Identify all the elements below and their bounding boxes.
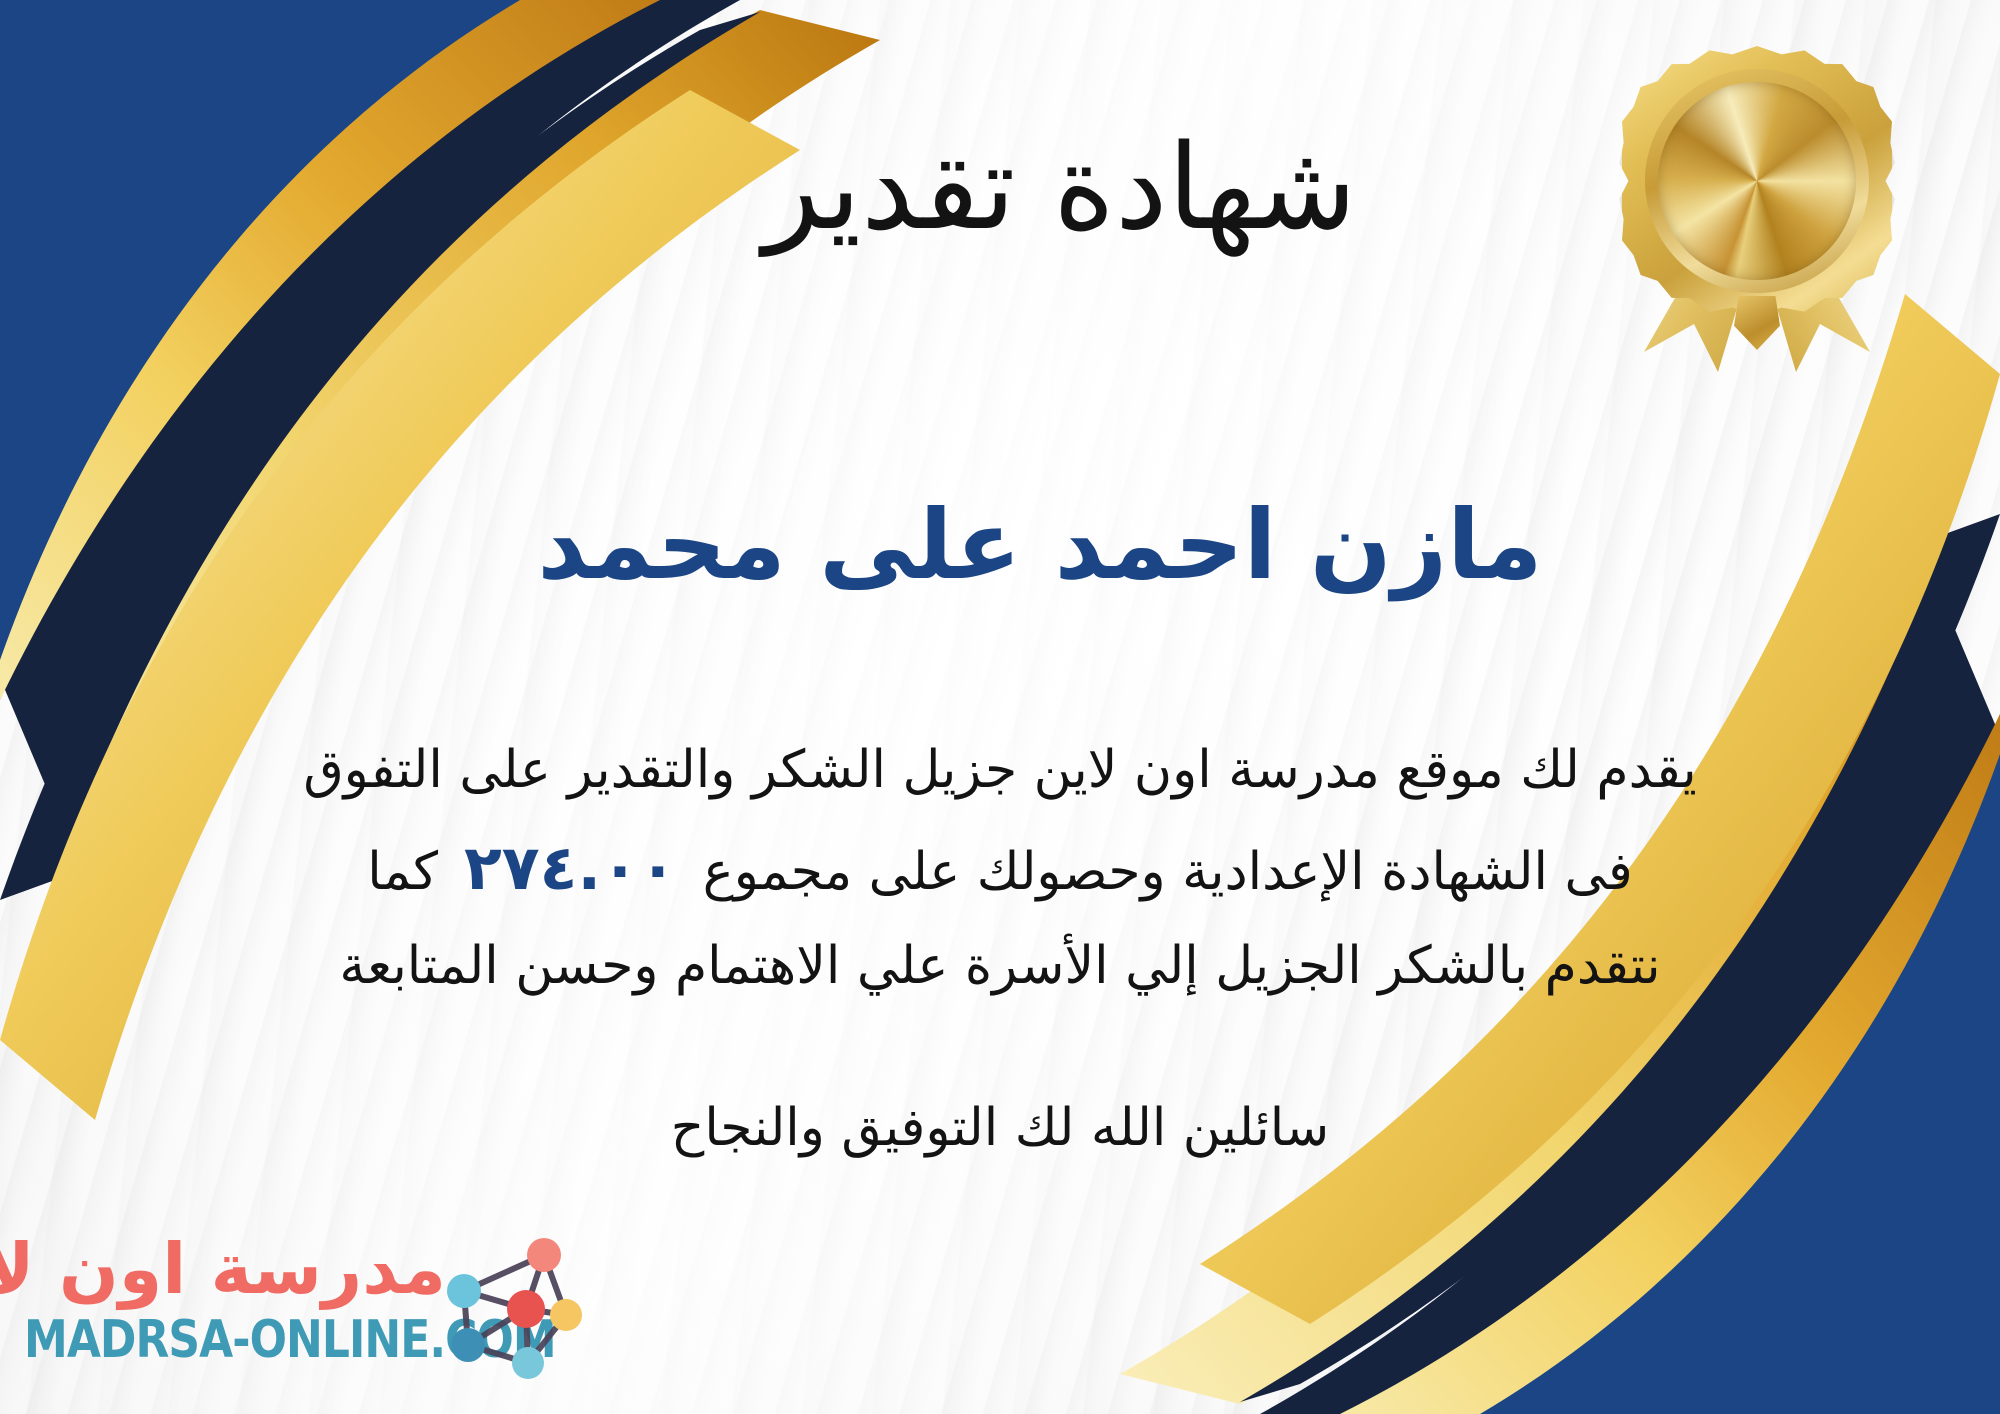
closing-wish: سائلين الله لك التوفيق والنجاح bbox=[0, 1098, 2000, 1158]
logo-domain-text: MADRSA-ONLINE.COM bbox=[24, 1313, 421, 1368]
body-line-1: يقدم لك موقع مدرسة اون لاين جزيل الشكر و… bbox=[60, 726, 1940, 815]
gold-rosette-medal bbox=[1622, 46, 1892, 316]
rosette-metal-disc bbox=[1658, 82, 1855, 279]
body-line-2-suffix: كما bbox=[367, 842, 438, 902]
grade-total-value: ٢٧٤.٠٠ bbox=[438, 815, 703, 922]
body-line-2-prefix: فى الشهادة الإعدادية وحصولك على مجموع bbox=[703, 842, 1633, 902]
network-nodes-icon bbox=[440, 1231, 582, 1383]
logo-arabic-name: مدرسة اون لاين bbox=[24, 1233, 446, 1307]
body-line-2: فى الشهادة الإعدادية وحصولك على مجموع٢٧٤… bbox=[60, 815, 1940, 922]
certificate-body: يقدم لك موقع مدرسة اون لاين جزيل الشكر و… bbox=[60, 726, 1940, 1012]
body-line-3: نتقدم بالشكر الجزيل إلي الأسرة علي الاهت… bbox=[60, 922, 1940, 1011]
award-seal bbox=[1622, 46, 1892, 376]
site-logo[interactable]: مدرسة اون لاين MADRSA-ONLINE.COM bbox=[22, 1227, 582, 1392]
recipient-name: مازن احمد على محمد bbox=[0, 490, 2000, 600]
logo-wordmark: مدرسة اون لاين MADRSA-ONLINE.COM bbox=[24, 1233, 446, 1367]
certificate-canvas: شهادة تقدير مازن احمد على محمد يقدم لك م… bbox=[0, 0, 2000, 1414]
